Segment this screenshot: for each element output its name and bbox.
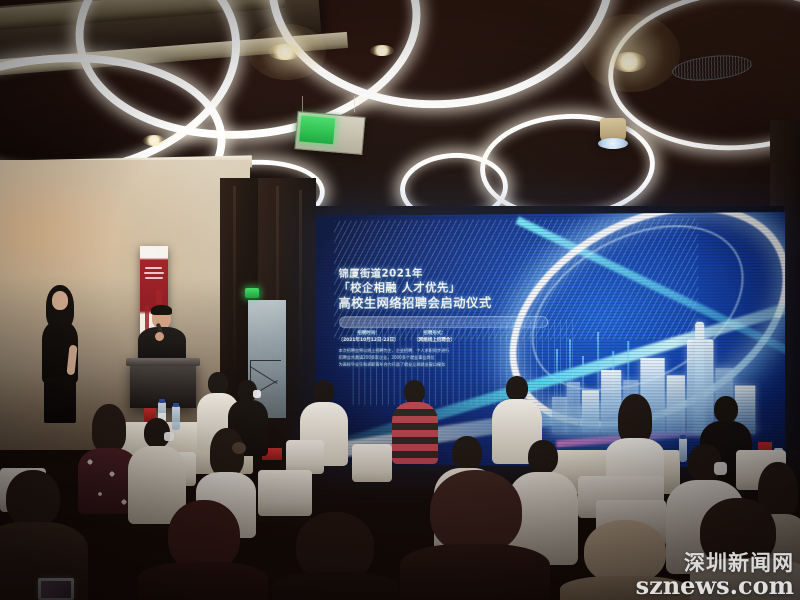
audience-front-2	[138, 500, 268, 600]
ceiling-downlight-4	[143, 135, 165, 146]
wall-exit-sign	[245, 288, 259, 298]
audience-head	[208, 372, 228, 395]
banner-text-line-3	[145, 277, 163, 279]
audience-head	[506, 376, 528, 401]
skyline-building	[667, 375, 685, 434]
phone-screen-content	[41, 581, 71, 598]
audience-body	[560, 576, 690, 600]
screen-blurb-line: 为高校毕业生和求职青年合力打造了就业立岗就业窗口服务	[339, 362, 546, 369]
ceiling-downlight-3	[370, 45, 394, 56]
bottle-cap-1	[159, 399, 165, 403]
bottle-cap-2	[173, 403, 179, 407]
exit-sign-housing	[294, 111, 365, 155]
audience-head	[714, 396, 738, 423]
audience-head	[6, 470, 60, 528]
audience-head	[528, 440, 558, 474]
photo-scene: 锦厦街道2021年 「校企相融 人才优先」 高校生网络招聘会启动仪式 招聘时间：…	[0, 0, 800, 600]
screen-title-block: 锦厦街道2021年 「校企相融 人才优先」 高校生网络招聘会启动仪式 招聘时间：…	[339, 267, 580, 369]
ceiling-downlight-2	[612, 52, 646, 72]
face-mask	[164, 432, 174, 441]
audience-front-3	[272, 512, 398, 600]
screen-blurb: 本次招聘会将以线上招聘为主，企业招聘、个人求职同步进行 招聘会共邀请200多家企…	[339, 348, 546, 369]
ceiling-downlight-1	[268, 44, 302, 60]
audience-body-striped	[392, 402, 438, 464]
screen-title-line-3: 高校生网络招聘会启动仪式	[339, 295, 580, 312]
audience-back-4	[392, 380, 438, 464]
audience-hair	[618, 394, 652, 444]
bottle-cap-3	[680, 435, 686, 439]
audience-front-6	[690, 498, 800, 600]
screen-meta-value: 〔网络线上招聘会〕	[414, 338, 455, 345]
audience-body	[138, 562, 268, 600]
banner-logo-block	[156, 290, 162, 304]
audience-body	[400, 544, 550, 600]
screen-meta-row: 招聘时间： 〔2021年10月12日-23日〕 招聘形式： 〔网络线上招聘会〕	[339, 331, 580, 345]
pendant-lens	[598, 138, 628, 149]
skyline-building	[582, 390, 599, 434]
screen-title-line-2: 「校企相融 人才优先」	[339, 280, 580, 296]
exit-sign-wire-right	[354, 96, 355, 112]
presenter-head	[52, 291, 68, 310]
speaker-hair	[151, 305, 172, 315]
screen-meta-value: 〔2021年10月12日-23日〕	[339, 338, 399, 345]
exit-icon	[299, 115, 335, 144]
chair-back-2	[352, 444, 392, 482]
audience-body	[690, 558, 800, 600]
audience-body	[272, 572, 398, 600]
standing-presenter	[34, 285, 90, 420]
audience-head	[313, 380, 334, 404]
speaker-hand	[155, 332, 164, 341]
hanging-exit-sign	[296, 96, 368, 158]
face-mask	[714, 462, 727, 475]
screen-title-pill	[339, 316, 548, 328]
audience-hair	[92, 404, 126, 452]
skyline-building	[552, 397, 567, 433]
banner-text-line-2	[144, 272, 164, 274]
hair-clip	[232, 442, 246, 454]
audience-head	[452, 436, 482, 470]
chair-back-1	[286, 440, 324, 474]
foreground-phone	[38, 578, 74, 600]
audience-head	[404, 380, 425, 404]
screen-meta-item: 招聘形式： 〔网络线上招聘会〕	[414, 331, 455, 345]
podium-top-surface	[126, 358, 200, 366]
curtain-fold-1	[233, 186, 236, 386]
banner-text-line-1	[145, 267, 162, 269]
audience-front-4	[400, 470, 550, 600]
skyline-building	[567, 383, 580, 434]
presenter-skirt	[44, 377, 76, 423]
screen-meta-item: 招聘时间： 〔2021年10月12日-23日〕	[339, 331, 399, 345]
curtain-fold-3	[299, 190, 302, 380]
audience-head	[430, 470, 522, 554]
audience-front-5	[560, 520, 690, 600]
screen-title-line-1: 锦厦街道2021年	[339, 267, 580, 281]
audience-head	[584, 520, 666, 584]
face-mask	[253, 390, 261, 398]
